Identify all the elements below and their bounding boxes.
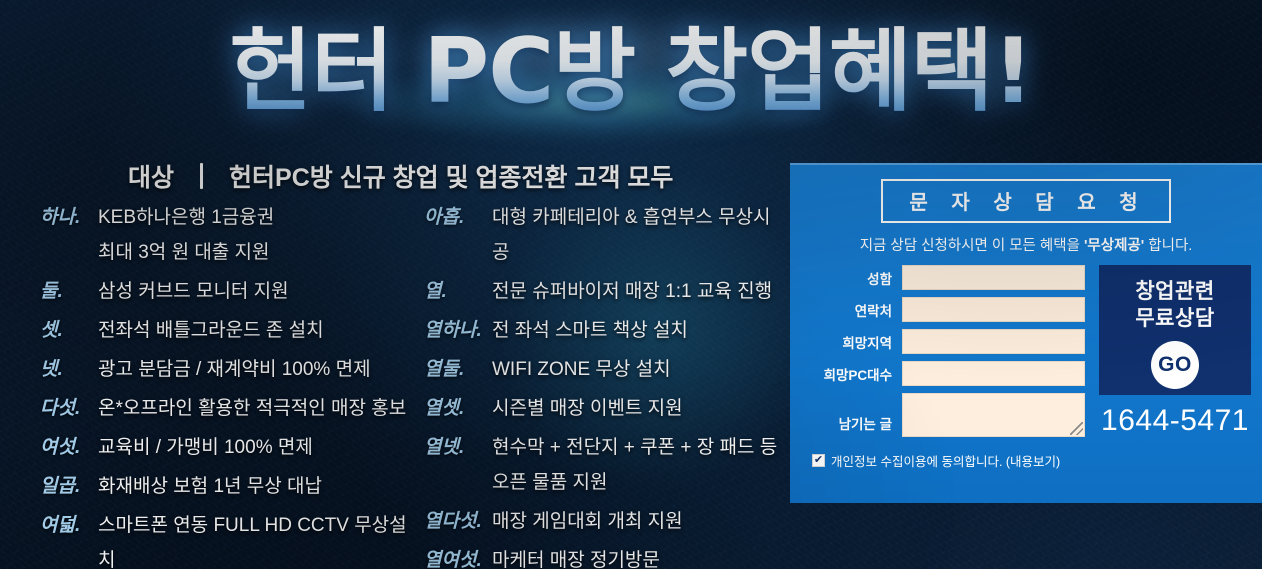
benefit-item: 둘. 삼성 커브드 모니터 지원 [40, 274, 420, 309]
message-textarea[interactable] [902, 393, 1085, 437]
benefit-item: 아홉. 대형 카페테리아 & 흡연부스 무상시공 [424, 200, 784, 270]
target-text: 헌터PC방 신규 창업 및 업종전환 고객 모두 [229, 158, 673, 194]
benefit-item: 여덟. 스마트폰 연동 FULL HD CCTV 무상설치 [40, 508, 420, 569]
pc-count-label: 희망PC대수 [808, 364, 902, 384]
benefit-text: 대형 카페테리아 & 흡연부스 무상시공 [492, 200, 784, 270]
panel-subtitle-before: 지금 상담 신청하시면 이 모든 혜택을 [860, 238, 1084, 254]
panel-title-wrap: 문 자 상 담 요 청 [790, 179, 1262, 223]
benefit-text: 전 좌석 스마트 책상 설치 [492, 313, 688, 348]
benefit-text: 교육비 / 가맹비 100% 면제 [98, 430, 313, 465]
benefit-item: 열여섯. 마케터 매장 정기방문 [424, 543, 784, 569]
cta-line-1: 창업관련 [1135, 278, 1214, 305]
region-label: 희망지역 [808, 332, 902, 352]
benefit-ordinal: 셋. [40, 313, 98, 348]
benefit-ordinal: 아홉. [424, 200, 492, 235]
benefit-ordinal: 열다섯. [424, 504, 492, 539]
benefit-ordinal: 다섯. [40, 391, 98, 426]
panel-body: 성함 연락처 희망지역 희망PC대수 남기는 글 [790, 265, 1262, 444]
hero-banner: 헌터 PC방 창업혜택! [0, 0, 1262, 150]
go-badge-icon[interactable]: GO [1151, 341, 1199, 389]
benefit-item: 여섯. 교육비 / 가맹비 100% 면제 [40, 430, 420, 465]
benefit-text: WIFI ZONE 무상 설치 [492, 352, 671, 387]
benefit-item: 열셋. 시즌별 매장 이벤트 지원 [424, 391, 784, 426]
benefit-text: 전좌석 배틀그라운드 존 설치 [98, 313, 324, 348]
page-title: 헌터 PC방 창업혜택! [0, 20, 1262, 124]
consent-text[interactable]: 개인정보 수집이용에 동의합니다. (내용보기) [831, 451, 1060, 470]
benefit-text: 전문 슈퍼바이저 매장 1:1 교육 진행 [492, 274, 772, 309]
benefit-ordinal: 열하나. [424, 313, 492, 348]
benefits-section: 하나. KEB하나은행 1금융권 최대 3억 원 대출 지원 둘. 삼성 커브드… [0, 200, 790, 560]
vertical-divider [200, 163, 203, 189]
benefit-ordinal: 둘. [40, 274, 98, 309]
benefit-text: 시즌별 매장 이벤트 지원 [492, 391, 683, 426]
benefit-text: 현수막 + 전단지 + 쿠폰 + 장 패드 등 오픈 물품 지원 [492, 430, 777, 500]
benefit-text: 스마트폰 연동 FULL HD CCTV 무상설치 [98, 508, 420, 569]
benefit-text: KEB하나은행 1금융권 최대 3억 원 대출 지원 [98, 200, 274, 270]
benefit-text: 매장 게임대회 개최 지원 [492, 504, 683, 539]
benefits-column-left: 하나. KEB하나은행 1금융권 최대 3억 원 대출 지원 둘. 삼성 커브드… [40, 200, 420, 569]
benefit-item: 열둘. WIFI ZONE 무상 설치 [424, 352, 784, 387]
name-input[interactable] [902, 265, 1085, 290]
panel-subtitle-strong: '무상제공' [1084, 238, 1144, 254]
phone-number: 1644-5471 [1099, 404, 1251, 438]
cta-column: 창업관련 무료상담 GO 1644-5471 [1085, 265, 1251, 444]
field-row-message: 남기는 글 [808, 393, 1085, 437]
target-audience-line: 대상 헌터PC방 신규 창업 및 업종전환 고객 모두 [128, 158, 673, 194]
region-input[interactable] [902, 329, 1085, 354]
benefit-item: 셋. 전좌석 배틀그라운드 존 설치 [40, 313, 420, 348]
benefit-item: 하나. KEB하나은행 1금융권 최대 3억 원 대출 지원 [40, 200, 420, 270]
benefit-item: 열. 전문 슈퍼바이저 매장 1:1 교육 진행 [424, 274, 784, 309]
benefit-item: 열다섯. 매장 게임대회 개최 지원 [424, 504, 784, 539]
benefit-ordinal: 여덟. [40, 508, 98, 543]
benefit-ordinal: 열셋. [424, 391, 492, 426]
panel-subtitle: 지금 상담 신청하시면 이 모든 혜택을 '무상제공' 합니다. [790, 234, 1262, 255]
pc-count-input[interactable] [902, 361, 1085, 386]
consent-checkbox[interactable]: ✔ [812, 454, 825, 467]
cta-line-2: 무료상담 [1135, 305, 1214, 332]
promo-page: 헌터 PC방 창업혜택! 대상 헌터PC방 신규 창업 및 업종전환 고객 모두… [0, 0, 1262, 569]
benefit-item: 일곱. 화재배상 보험 1년 무상 대납 [40, 469, 420, 504]
benefit-text: 마케터 매장 정기방문 [492, 543, 660, 569]
consent-row[interactable]: ✔ 개인정보 수집이용에 동의합니다. (내용보기) [812, 451, 1262, 470]
phone-input[interactable] [902, 297, 1085, 322]
benefit-ordinal: 열둘. [424, 352, 492, 387]
benefit-item: 열넷. 현수막 + 전단지 + 쿠폰 + 장 패드 등 오픈 물품 지원 [424, 430, 784, 500]
field-row-region: 희망지역 [808, 329, 1085, 354]
benefit-ordinal: 열넷. [424, 430, 492, 465]
panel-subtitle-after: 합니다. [1144, 238, 1192, 254]
benefit-item: 다섯. 온*오프라인 활용한 적극적인 매장 홍보 [40, 391, 420, 426]
message-label: 남기는 글 [808, 413, 902, 437]
benefit-item: 넷. 광고 분담금 / 재계약비 100% 면제 [40, 352, 420, 387]
panel-title: 문 자 상 담 요 청 [881, 179, 1170, 223]
phone-label: 연락처 [808, 300, 902, 320]
benefit-ordinal: 일곱. [40, 469, 98, 504]
benefit-ordinal: 여섯. [40, 430, 98, 465]
field-row-phone: 연락처 [808, 297, 1085, 322]
sms-inquiry-panel: 문 자 상 담 요 청 지금 상담 신청하시면 이 모든 혜택을 '무상제공' … [790, 163, 1262, 503]
name-label: 성함 [808, 268, 902, 288]
inquiry-form: 성함 연락처 희망지역 희망PC대수 남기는 글 [808, 265, 1085, 444]
benefit-item: 열하나. 전 좌석 스마트 책상 설치 [424, 313, 784, 348]
benefit-text: 광고 분담금 / 재계약비 100% 면제 [98, 352, 371, 387]
benefit-text: 화재배상 보험 1년 무상 대납 [98, 469, 322, 504]
benefit-text: 삼성 커브드 모니터 지원 [98, 274, 289, 309]
benefits-column-right: 아홉. 대형 카페테리아 & 흡연부스 무상시공 열. 전문 슈퍼바이저 매장 … [424, 200, 784, 569]
benefit-ordinal: 열여섯. [424, 543, 492, 569]
resize-grip-icon[interactable] [1070, 422, 1083, 435]
benefit-ordinal: 하나. [40, 200, 98, 235]
benefit-ordinal: 넷. [40, 352, 98, 387]
field-row-name: 성함 [808, 265, 1085, 290]
target-label: 대상 [128, 158, 174, 194]
benefit-ordinal: 열. [424, 274, 492, 309]
submit-button[interactable]: 창업관련 무료상담 GO [1099, 265, 1251, 395]
field-row-pc-count: 희망PC대수 [808, 361, 1085, 386]
benefit-text: 온*오프라인 활용한 적극적인 매장 홍보 [98, 391, 406, 426]
